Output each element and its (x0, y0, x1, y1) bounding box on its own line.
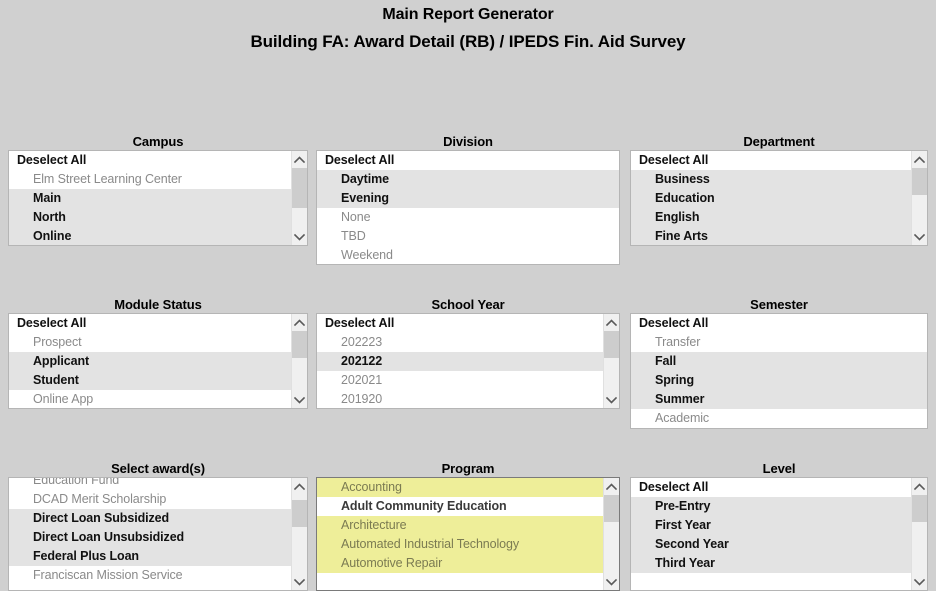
scrollbar-campus[interactable] (291, 151, 307, 245)
chevron-down-icon[interactable] (912, 573, 927, 590)
filter-panel-level: LevelDeselect AllPre-EntryFirst YearSeco… (630, 461, 928, 591)
list-item[interactable]: Online (9, 227, 307, 246)
listbox-select-awards[interactable]: Education FundDCAD Merit ScholarshipDire… (8, 477, 308, 591)
list-item[interactable]: Direct Loan Subsidized (9, 509, 307, 528)
chevron-down-icon[interactable] (604, 573, 619, 590)
scrollbar-module-status[interactable] (291, 314, 307, 408)
scrollbar-program[interactable] (603, 478, 619, 590)
page-title-main: Main Report Generator (0, 4, 936, 25)
filter-panel-campus: CampusDeselect AllElm Street Learning Ce… (8, 134, 308, 246)
chevron-up-icon[interactable] (292, 151, 307, 168)
list-item[interactable]: Fine Arts (631, 227, 927, 246)
chevron-down-icon[interactable] (912, 228, 927, 245)
listbox-items-campus: Deselect AllElm Street Learning CenterMa… (9, 151, 307, 246)
scrollbar-thumb[interactable] (292, 500, 307, 527)
scrollbar-school-year[interactable] (603, 314, 619, 408)
panel-label-school-year: School Year (316, 297, 620, 313)
list-item[interactable]: Weekend (317, 246, 619, 265)
scrollbar-thumb[interactable] (604, 331, 619, 358)
list-item[interactable]: First Year (631, 516, 927, 535)
deselect-all-option[interactable]: Deselect All (9, 314, 307, 333)
list-item[interactable]: Automotive Repair (317, 554, 619, 573)
chevron-up-icon[interactable] (912, 478, 927, 495)
list-item[interactable]: Elm Street Learning Center (9, 170, 307, 189)
list-item[interactable]: Business (631, 170, 927, 189)
filter-panel-semester: SemesterDeselect AllTransferFallSpringSu… (630, 297, 928, 429)
chevron-up-icon[interactable] (604, 314, 619, 331)
listbox-campus[interactable]: Deselect AllElm Street Learning CenterMa… (8, 150, 308, 246)
scrollbar-thumb[interactable] (292, 331, 307, 358)
list-item[interactable]: Education Fund (9, 477, 307, 490)
scrollbar-department[interactable] (911, 151, 927, 245)
listbox-items-school-year: Deselect All202223202122202021201920 (317, 314, 619, 409)
deselect-all-option[interactable]: Deselect All (317, 151, 619, 170)
listbox-items-semester: Deselect AllTransferFallSpringSummerAcad… (631, 314, 927, 428)
filter-panel-program: ProgramAccountingAdult Community Educati… (316, 461, 620, 591)
list-item[interactable]: Third Year (631, 554, 927, 573)
listbox-department[interactable]: Deselect AllBusinessEducationEnglishFine… (630, 150, 928, 246)
list-item[interactable]: Adult Community Education (317, 497, 619, 516)
deselect-all-option[interactable]: Deselect All (317, 314, 619, 333)
list-item[interactable]: Applicant (9, 352, 307, 371)
list-item[interactable]: Student (9, 371, 307, 390)
list-item[interactable]: Accounting (317, 478, 619, 497)
panel-label-division: Division (316, 134, 620, 150)
listbox-items-module-status: Deselect AllProspectApplicantStudentOnli… (9, 314, 307, 409)
filter-panel-select-awards: Select award(s)Education FundDCAD Merit … (8, 461, 308, 591)
list-item[interactable]: Evening (317, 189, 619, 208)
panel-label-campus: Campus (8, 134, 308, 150)
chevron-up-icon[interactable] (604, 478, 619, 495)
listbox-items-level: Deselect AllPre-EntryFirst YearSecond Ye… (631, 478, 927, 573)
list-item[interactable]: North (9, 208, 307, 227)
listbox-division[interactable]: Deselect AllDaytimeEveningNoneTBDWeekend (316, 150, 620, 265)
list-item[interactable]: Pre-Entry (631, 497, 927, 516)
list-item[interactable]: 202021 (317, 371, 619, 390)
listbox-module-status[interactable]: Deselect AllProspectApplicantStudentOnli… (8, 313, 308, 409)
listbox-items-select-awards: Education FundDCAD Merit ScholarshipDire… (9, 477, 307, 585)
list-item[interactable]: Second Year (631, 535, 927, 554)
panel-label-department: Department (630, 134, 928, 150)
deselect-all-option[interactable]: Deselect All (631, 478, 927, 497)
list-item[interactable]: Online App (9, 390, 307, 409)
list-item[interactable]: Federal Plus Loan (9, 547, 307, 566)
panel-label-level: Level (630, 461, 928, 477)
filter-panel-school-year: School YearDeselect All20222320212220202… (316, 297, 620, 409)
list-item[interactable]: Summer (631, 390, 927, 409)
list-item[interactable]: English (631, 208, 927, 227)
list-item[interactable]: 202122 (317, 352, 619, 371)
list-item[interactable]: Main (9, 189, 307, 208)
report-header: Main Report Generator Building FA: Award… (0, 0, 936, 52)
listbox-items-department: Deselect AllBusinessEducationEnglishFine… (631, 151, 927, 246)
deselect-all-option[interactable]: Deselect All (631, 314, 927, 333)
panel-label-semester: Semester (630, 297, 928, 313)
listbox-level[interactable]: Deselect AllPre-EntryFirst YearSecond Ye… (630, 477, 928, 591)
listbox-school-year[interactable]: Deselect All202223202122202021201920 (316, 313, 620, 409)
list-item[interactable]: Architecture (317, 516, 619, 535)
list-item[interactable]: Franciscan Mission Service (9, 566, 307, 585)
list-item[interactable]: TBD (317, 227, 619, 246)
filter-panel-division: DivisionDeselect AllDaytimeEveningNoneTB… (316, 134, 620, 265)
list-item[interactable]: Daytime (317, 170, 619, 189)
deselect-all-option[interactable]: Deselect All (9, 151, 307, 170)
deselect-all-option[interactable]: Deselect All (631, 151, 927, 170)
page-title-sub: Building FA: Award Detail (RB) / IPEDS F… (0, 25, 936, 52)
list-item[interactable]: Direct Loan Unsubsidized (9, 528, 307, 547)
scrollbar-thumb[interactable] (604, 495, 619, 522)
list-item[interactable]: 202223 (317, 333, 619, 352)
list-item[interactable]: DCAD Merit Scholarship (9, 490, 307, 509)
list-item[interactable]: Transfer (631, 333, 927, 352)
chevron-down-icon[interactable] (292, 573, 307, 590)
chevron-up-icon[interactable] (292, 314, 307, 331)
listbox-items-division: Deselect AllDaytimeEveningNoneTBDWeekend (317, 151, 619, 265)
scrollbar-thumb[interactable] (912, 495, 927, 522)
scrollbar-level[interactable] (911, 478, 927, 590)
list-item[interactable]: 201920 (317, 390, 619, 409)
filter-panel-department: DepartmentDeselect AllBusinessEducationE… (630, 134, 928, 246)
chevron-down-icon[interactable] (604, 391, 619, 408)
listbox-program[interactable]: AccountingAdult Community EducationArchi… (316, 477, 620, 591)
panel-label-module-status: Module Status (8, 297, 308, 313)
scrollbar-thumb[interactable] (912, 168, 927, 195)
listbox-items-program: AccountingAdult Community EducationArchi… (317, 478, 619, 573)
chevron-up-icon[interactable] (912, 151, 927, 168)
listbox-semester[interactable]: Deselect AllTransferFallSpringSummerAcad… (630, 313, 928, 429)
scrollbar-select-awards[interactable] (291, 478, 307, 590)
list-item[interactable]: None (317, 208, 619, 227)
list-item[interactable]: Fall (631, 352, 927, 371)
scrollbar-thumb[interactable] (292, 168, 307, 208)
list-item[interactable]: Spring (631, 371, 927, 390)
list-item[interactable]: Automated Industrial Technology (317, 535, 619, 554)
chevron-down-icon[interactable] (292, 391, 307, 408)
chevron-up-icon[interactable] (292, 478, 307, 495)
list-item[interactable]: Education (631, 189, 927, 208)
panel-label-select-awards: Select award(s) (8, 461, 308, 477)
list-item[interactable]: Prospect (9, 333, 307, 352)
chevron-down-icon[interactable] (292, 228, 307, 245)
list-item[interactable]: Academic (631, 409, 927, 428)
panel-label-program: Program (316, 461, 620, 477)
filter-panel-module-status: Module StatusDeselect AllProspectApplica… (8, 297, 308, 409)
